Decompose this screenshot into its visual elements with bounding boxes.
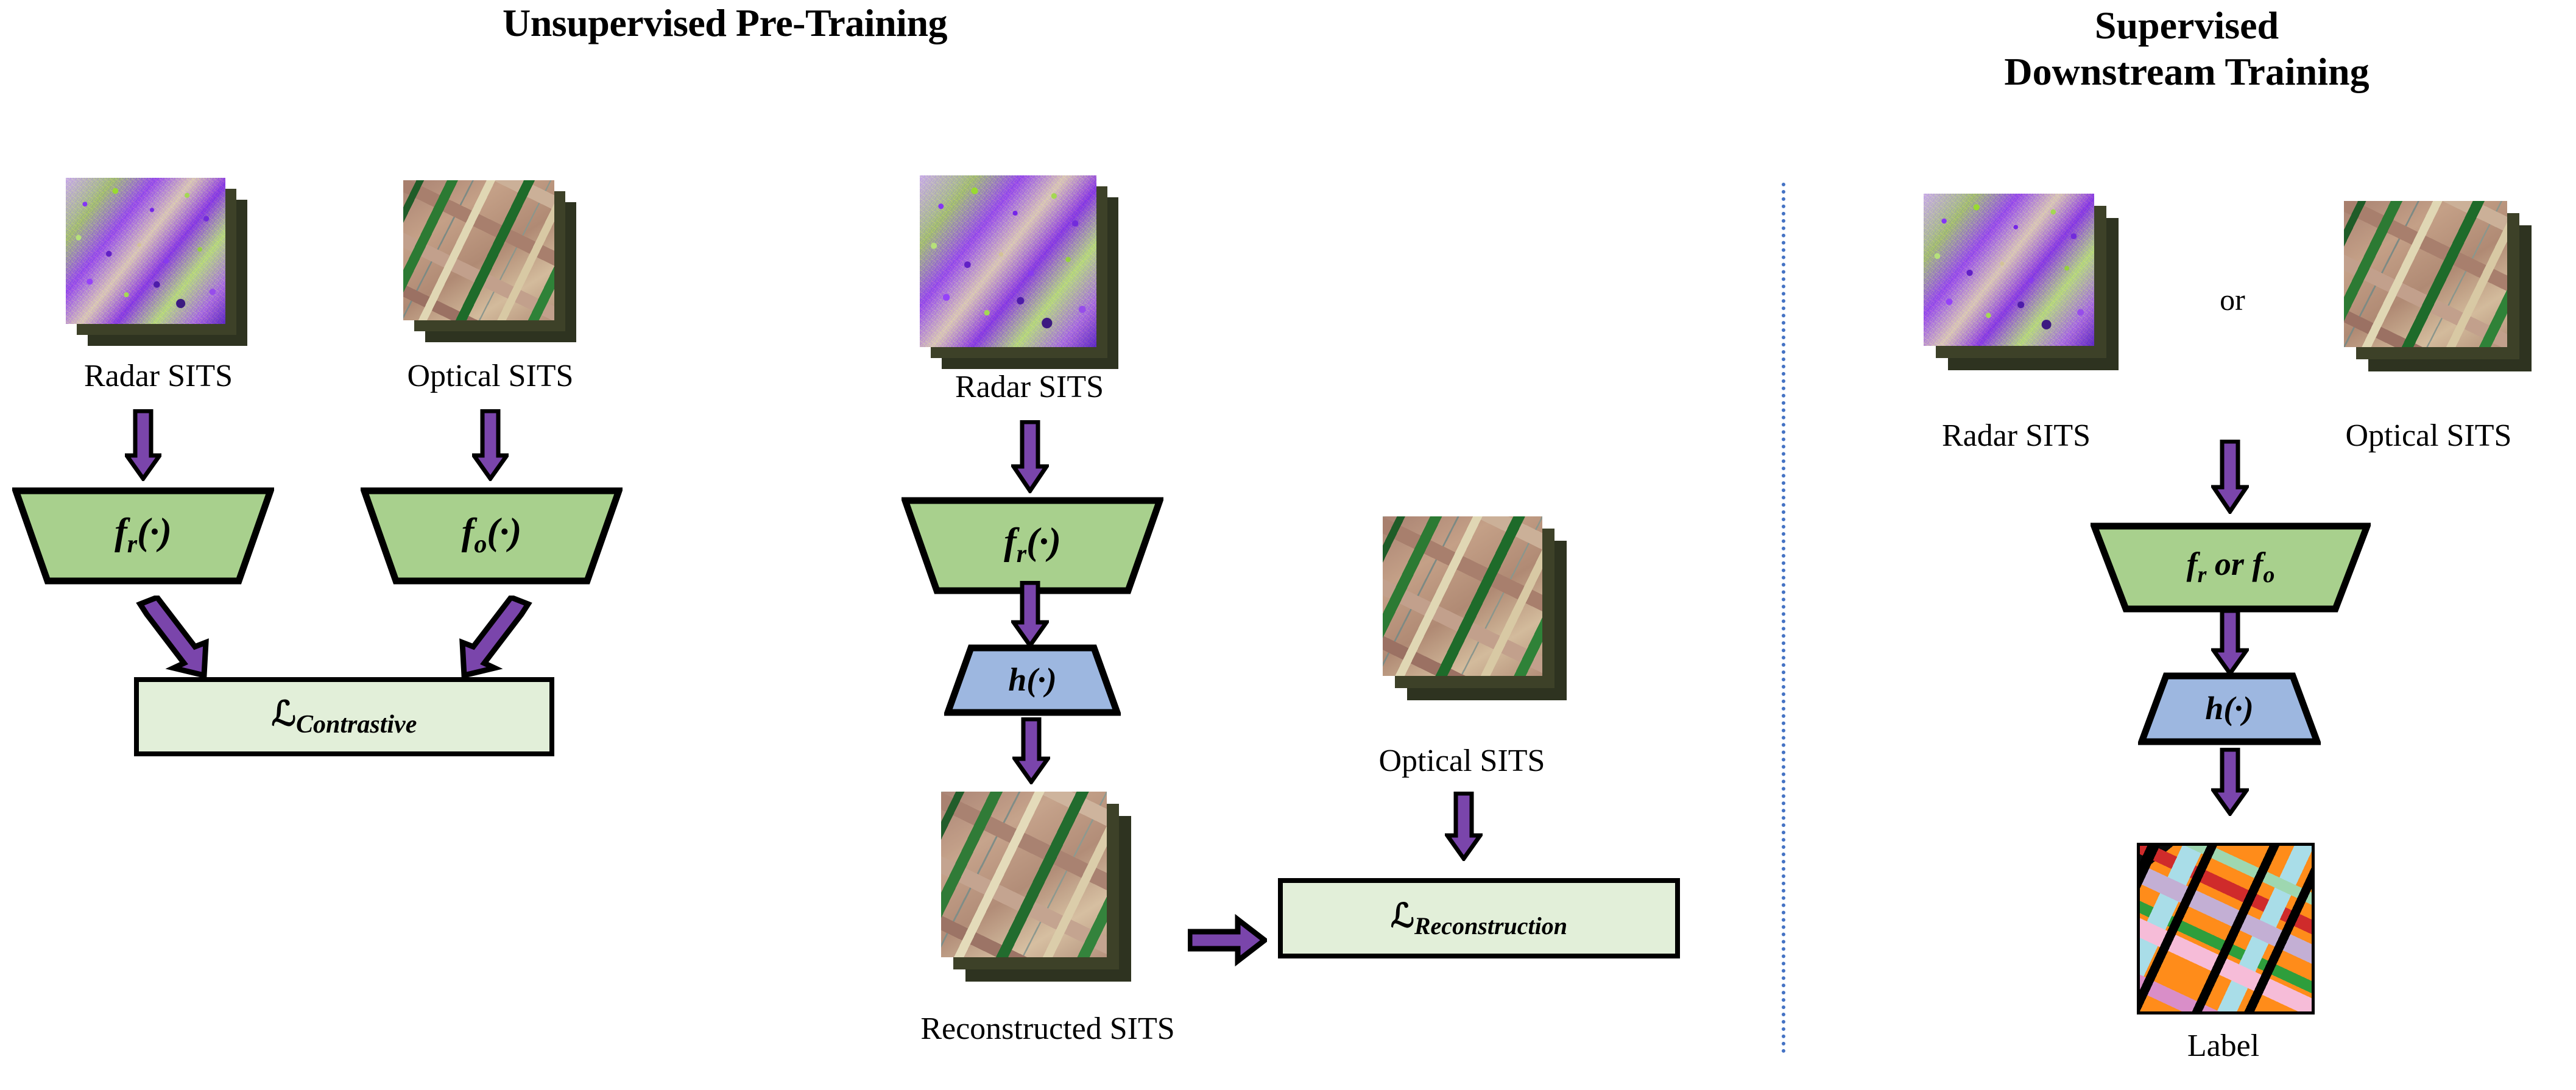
arrow-encoder-to-decoder-right — [2211, 609, 2249, 676]
encoder-radar-mid-subscript: r — [1017, 540, 1026, 568]
reconstructed-sits-image — [941, 792, 1107, 957]
reconstruction-loss-box: ℒReconstruction — [1278, 878, 1680, 958]
right-section-title: Supervised Downstream Training — [1821, 2, 2552, 95]
decoder-right: h(·) — [2138, 672, 2321, 745]
arrow-optical-to-reconstruction-loss — [1445, 792, 1483, 861]
radar-sits-image — [1924, 194, 2094, 346]
encoder-radar-left: fr(·) — [12, 487, 274, 585]
radar-sits-image — [920, 175, 1096, 347]
right-title-line-2: Downstream Training — [1821, 49, 2552, 95]
arrow-input-to-encoder-right — [2211, 440, 2249, 514]
encoder-optical-left: fo(·) — [361, 487, 623, 585]
reconstruction-loss-symbol: ℒ — [1391, 898, 1414, 934]
radar-sits-label-left: Radar SITS — [0, 359, 317, 393]
arrow-radar-to-encoder-middle — [1011, 420, 1049, 493]
arrow-encoder-to-decoder-middle — [1011, 581, 1049, 648]
encoder-either-conjunction: or — [2206, 546, 2252, 582]
right-title-line-1: Supervised — [1821, 2, 2552, 49]
encoder-radar-mid-symbol: f — [1004, 521, 1017, 563]
optical-sits-image — [1383, 516, 1542, 676]
encoder-radar-symbol: f — [115, 512, 127, 553]
encoder-either-symbol-1: f — [2187, 546, 2198, 582]
radar-sits-label-right: Radar SITS — [1858, 419, 2175, 453]
encoder-radar-subscript: r — [127, 530, 137, 558]
or-label: or — [2187, 283, 2278, 316]
decoder-middle-arg: (·) — [1026, 661, 1056, 698]
reconstructed-sits-label: Reconstructed SITS — [841, 1012, 1255, 1046]
arrow-radar-encoder-to-contrastive — [135, 596, 217, 681]
radar-sits-label-middle: Radar SITS — [871, 370, 1188, 404]
optical-sits-label-right: Optical SITS — [2281, 419, 2576, 453]
encoder-radar-arg: (·) — [137, 512, 172, 553]
optical-sits-image — [2344, 201, 2507, 347]
label-caption: Label — [2101, 1029, 2345, 1063]
contrastive-loss-box: ℒContrastive — [134, 677, 554, 756]
optical-sits-stack-right — [2344, 201, 2545, 384]
optical-sits-stack-middle — [1383, 516, 1584, 705]
optical-sits-image — [403, 180, 554, 320]
encoder-either-symbol-2: f — [2252, 546, 2263, 582]
encoder-either-subscript-1: r — [2198, 562, 2207, 588]
decoder-right-arg: (·) — [2223, 690, 2253, 726]
radar-sits-stack-middle — [920, 175, 1121, 358]
encoder-optical-subscript: o — [474, 530, 487, 558]
decoder-middle-symbol: h — [1008, 661, 1026, 698]
encoder-either-subscript-2: o — [2263, 562, 2274, 588]
optical-sits-label-left: Optical SITS — [326, 359, 655, 393]
encoder-optical-symbol: f — [462, 512, 475, 553]
label-map-image — [2137, 843, 2315, 1014]
arrow-decoder-to-label — [2211, 748, 2249, 816]
arrow-optical-to-encoder — [472, 409, 509, 481]
arrow-decoder-to-reconstructed — [1012, 717, 1050, 784]
arrow-reconstructed-to-loss — [1188, 913, 1267, 967]
contrastive-loss-symbol: ℒ — [272, 695, 296, 733]
encoder-radar-mid-arg: (·) — [1026, 521, 1061, 563]
encoder-optical-arg: (·) — [487, 512, 521, 553]
radar-sits-image — [66, 178, 225, 324]
decoder-right-symbol: h — [2205, 690, 2223, 726]
encoder-either-right: fr or fo — [2091, 522, 2371, 613]
encoder-radar-middle: fr(·) — [902, 497, 1163, 594]
left-section-title: Unsupervised Pre-Training — [329, 1, 1121, 45]
arrow-radar-to-encoder — [125, 409, 161, 481]
optical-sits-label-middle: Optical SITS — [1297, 744, 1626, 778]
radar-sits-stack-right — [1924, 194, 2125, 382]
decoder-middle: h(·) — [944, 644, 1121, 716]
arrow-optical-encoder-to-contrastive — [451, 596, 533, 681]
optical-sits-stack-left — [403, 180, 580, 345]
contrastive-loss-subscript: Contrastive — [296, 711, 417, 739]
radar-sits-stack-left — [66, 178, 242, 342]
section-divider — [1782, 183, 1785, 1053]
reconstruction-loss-subscript: Reconstruction — [1414, 912, 1567, 940]
reconstructed-sits-stack — [941, 792, 1142, 986]
